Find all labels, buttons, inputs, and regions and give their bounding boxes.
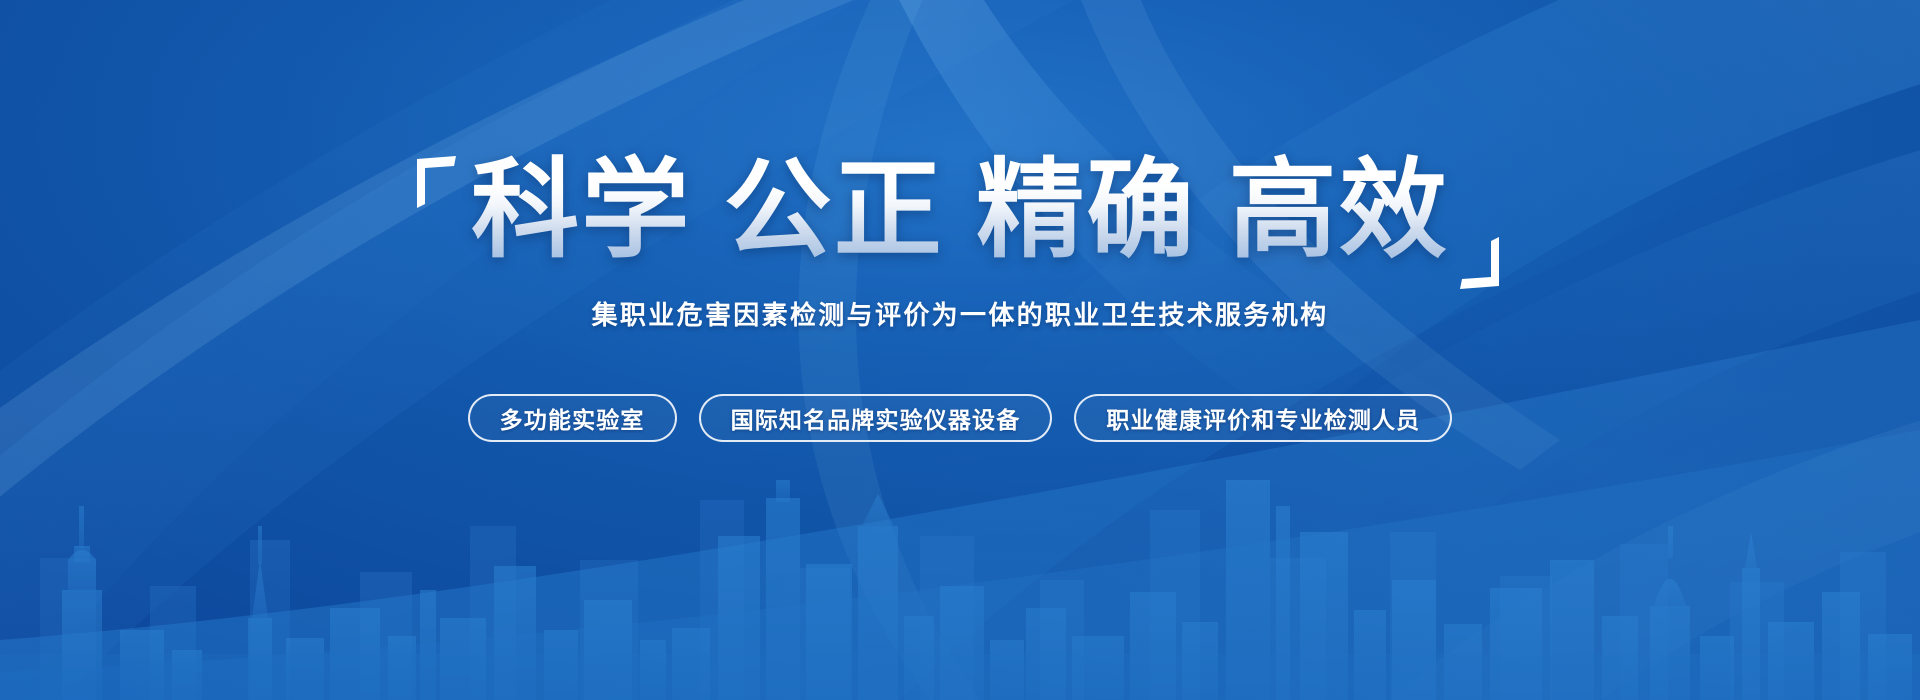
feature-pill-label: 多功能实验室 — [500, 401, 645, 435]
feature-pill-equipment[interactable]: 国际知名品牌实验仪器设备 — [699, 394, 1053, 442]
quote-close-bracket-icon — [1459, 235, 1499, 285]
headline-block: 科学 公正 精确 高效 — [471, 150, 1449, 271]
banner-content: 科学 公正 精确 高效 集职业危害因素检测与评价为一体的职业卫生技术服务机构 多… — [0, 0, 1920, 700]
hero-banner: 科学 公正 精确 高效 集职业危害因素检测与评价为一体的职业卫生技术服务机构 多… — [0, 0, 1920, 700]
feature-pill-label: 职业健康评价和专业检测人员 — [1106, 401, 1420, 435]
feature-pill-staff[interactable]: 职业健康评价和专业检测人员 — [1074, 394, 1452, 442]
banner-subtitle: 集职业危害因素检测与评价为一体的职业卫生技术服务机构 — [592, 295, 1329, 332]
quote-open-bracket-icon — [415, 156, 455, 206]
feature-pill-group: 多功能实验室 国际知名品牌实验仪器设备 职业健康评价和专业检测人员 — [468, 394, 1453, 442]
feature-pill-lab[interactable]: 多功能实验室 — [468, 394, 677, 442]
feature-pill-label: 国际知名品牌实验仪器设备 — [731, 401, 1021, 435]
headline-text: 科学 公正 精确 高效 — [471, 150, 1449, 271]
